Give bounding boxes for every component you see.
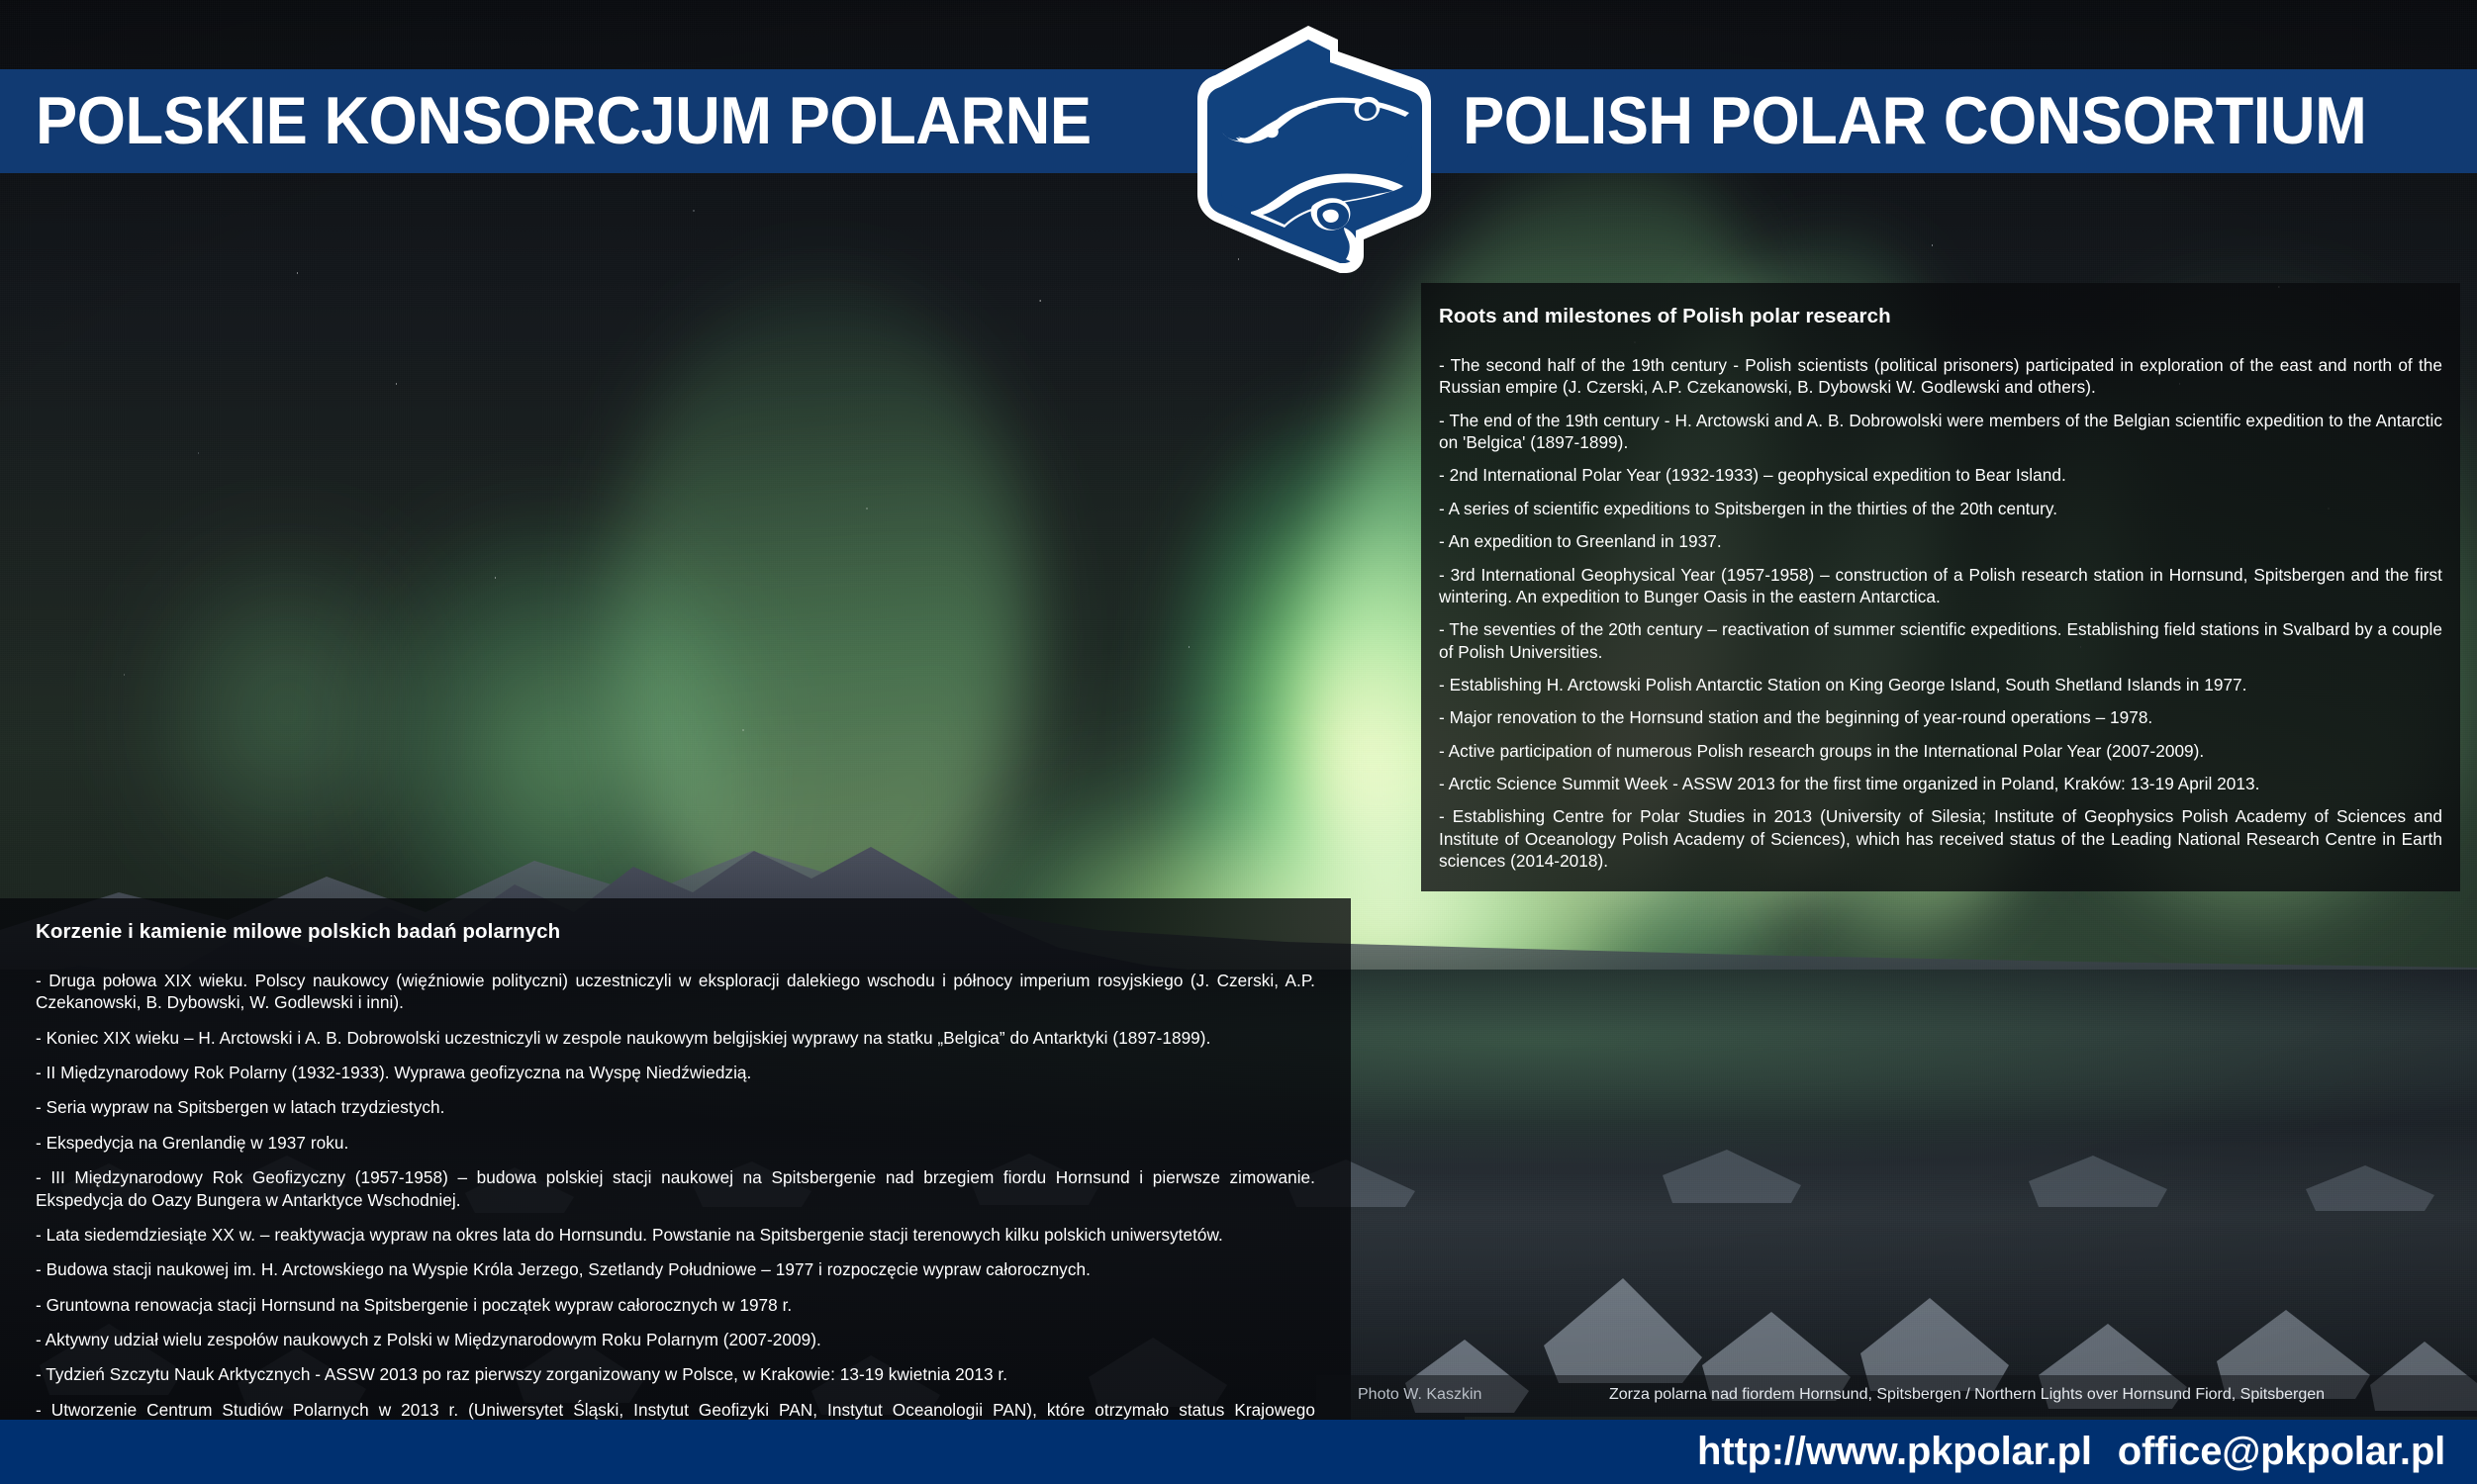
- english-text-panel: Roots and milestones of Polish polar res…: [1421, 283, 2460, 891]
- english-panel-heading: Roots and milestones of Polish polar res…: [1439, 305, 2442, 328]
- polish-text-panel: Korzenie i kamienie milowe polskich bada…: [0, 898, 1351, 1468]
- email-link[interactable]: office@pkpolar.pl: [2118, 1430, 2445, 1473]
- footer-contact: http://www.pkpolar.ploffice@pkpolar.pl: [1697, 1422, 2445, 1482]
- english-item: - The end of the 19th century - H. Arcto…: [1439, 410, 2442, 454]
- english-item: - The second half of the 19th century - …: [1439, 354, 2442, 399]
- english-item: - An expedition to Greenland in 1937.: [1439, 530, 2442, 552]
- polish-item: - Koniec XIX wieku – H. Arctowski i A. B…: [36, 1027, 1315, 1049]
- polish-item: - II Międzynarodowy Rok Polarny (1932-19…: [36, 1062, 1315, 1083]
- polish-item: - Tydzień Szczytu Nauk Arktycznych - ASS…: [36, 1363, 1315, 1385]
- header-title-polish: POLSKIE KONSORCJUM POLARNE: [36, 71, 1092, 171]
- english-item: - A series of scientific expeditions to …: [1439, 498, 2442, 519]
- english-item: - Establishing Centre for Polar Studies …: [1439, 805, 2442, 872]
- polish-item: - Gruntowna renowacja stacji Hornsund na…: [36, 1294, 1315, 1316]
- english-item: - The seventies of the 20th century – re…: [1439, 618, 2442, 663]
- english-item: - Arctic Science Summit Week - ASSW 2013…: [1439, 773, 2442, 794]
- english-item: - 2nd International Polar Year (1932-193…: [1439, 464, 2442, 486]
- english-item: - Major renovation to the Hornsund stati…: [1439, 706, 2442, 728]
- poster: POLSKIE KONSORCJUM POLARNE POLISH POLAR …: [0, 0, 2477, 1484]
- english-item: - 3rd International Geophysical Year (19…: [1439, 564, 2442, 608]
- english-item: - Establishing H. Arctowski Polish Antar…: [1439, 674, 2442, 696]
- english-item: - Active participation of numerous Polis…: [1439, 740, 2442, 762]
- photo-credit: Photo W. Kaszkin: [1358, 1386, 1481, 1404]
- footer-bar: http://www.pkpolar.ploffice@pkpolar.pl: [0, 1420, 2477, 1484]
- photo-caption-strip: Photo W. Kaszkin Zorza polarna nad fiord…: [1316, 1375, 2477, 1420]
- polar-bear-seal-shield-logo: [1190, 18, 1435, 283]
- polish-item: - Druga połowa XIX wieku. Polscy naukowc…: [36, 970, 1315, 1014]
- polish-item: - Budowa stacji naukowej im. H. Arctowsk…: [36, 1258, 1315, 1280]
- polish-item: - III Międzynarodowy Rok Geofizyczny (19…: [36, 1166, 1315, 1211]
- website-link[interactable]: http://www.pkpolar.pl: [1697, 1430, 2092, 1473]
- polish-item: - Seria wypraw na Spitsbergen w latach t…: [36, 1096, 1315, 1118]
- polish-item: - Ekspedycja na Grenlandię w 1937 roku.: [36, 1132, 1315, 1154]
- photo-caption-text: Zorza polarna nad fiordem Hornsund, Spit…: [1609, 1386, 2325, 1404]
- polish-item: - Lata siedemdziesiąte XX w. – reaktywac…: [36, 1224, 1315, 1246]
- polish-panel-heading: Korzenie i kamienie milowe polskich bada…: [36, 920, 1315, 944]
- polish-item: - Aktywny udział wielu zespołów naukowyc…: [36, 1329, 1315, 1350]
- header-title-english: POLISH POLAR CONSORTIUM: [1463, 71, 2366, 171]
